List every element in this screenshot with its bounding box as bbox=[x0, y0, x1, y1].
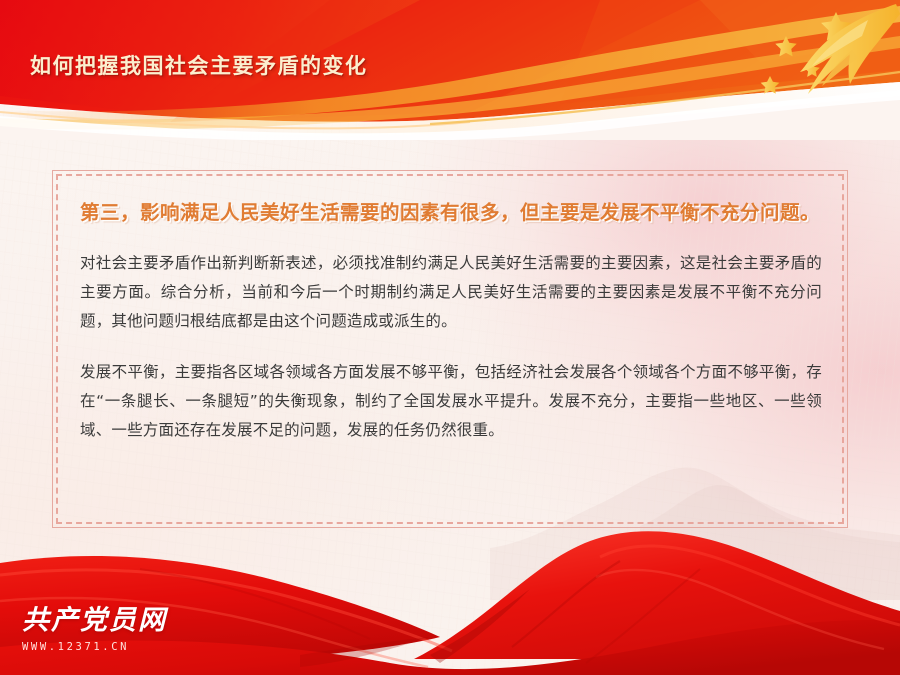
slide-root: 如何把握我国社会主要矛盾的变化 第三，影响满足人民美好生活需要的因素有很多，但主… bbox=[0, 0, 900, 675]
body-paragraph-2: 发展不平衡，主要指各区域各领域各方面发展不够平衡，包括经济社会发展各个领域各个方… bbox=[80, 358, 822, 445]
top-banner: 如何把握我国社会主要矛盾的变化 bbox=[0, 0, 900, 140]
site-logo[interactable]: 共产党员网 WWW.12371.CN bbox=[22, 607, 172, 653]
body-paragraph-1: 对社会主要矛盾作出新判断新表述，必须找准制约满足人民美好生活需要的主要因素，这是… bbox=[80, 249, 822, 336]
page-title: 如何把握我国社会主要矛盾的变化 bbox=[30, 50, 368, 80]
bottom-silk-banner: 共产党员网 WWW.12371.CN bbox=[0, 515, 900, 675]
content-body: 第三，影响满足人民美好生活需要的因素有很多，但主要是发展不平衡不充分问题。 对社… bbox=[80, 196, 822, 445]
logo-url: WWW.12371.CN bbox=[22, 641, 172, 653]
section-heading: 第三，影响满足人民美好生活需要的因素有很多，但主要是发展不平衡不充分问题。 bbox=[80, 196, 822, 229]
logo-wordmark: 共产党员网 bbox=[22, 607, 172, 634]
